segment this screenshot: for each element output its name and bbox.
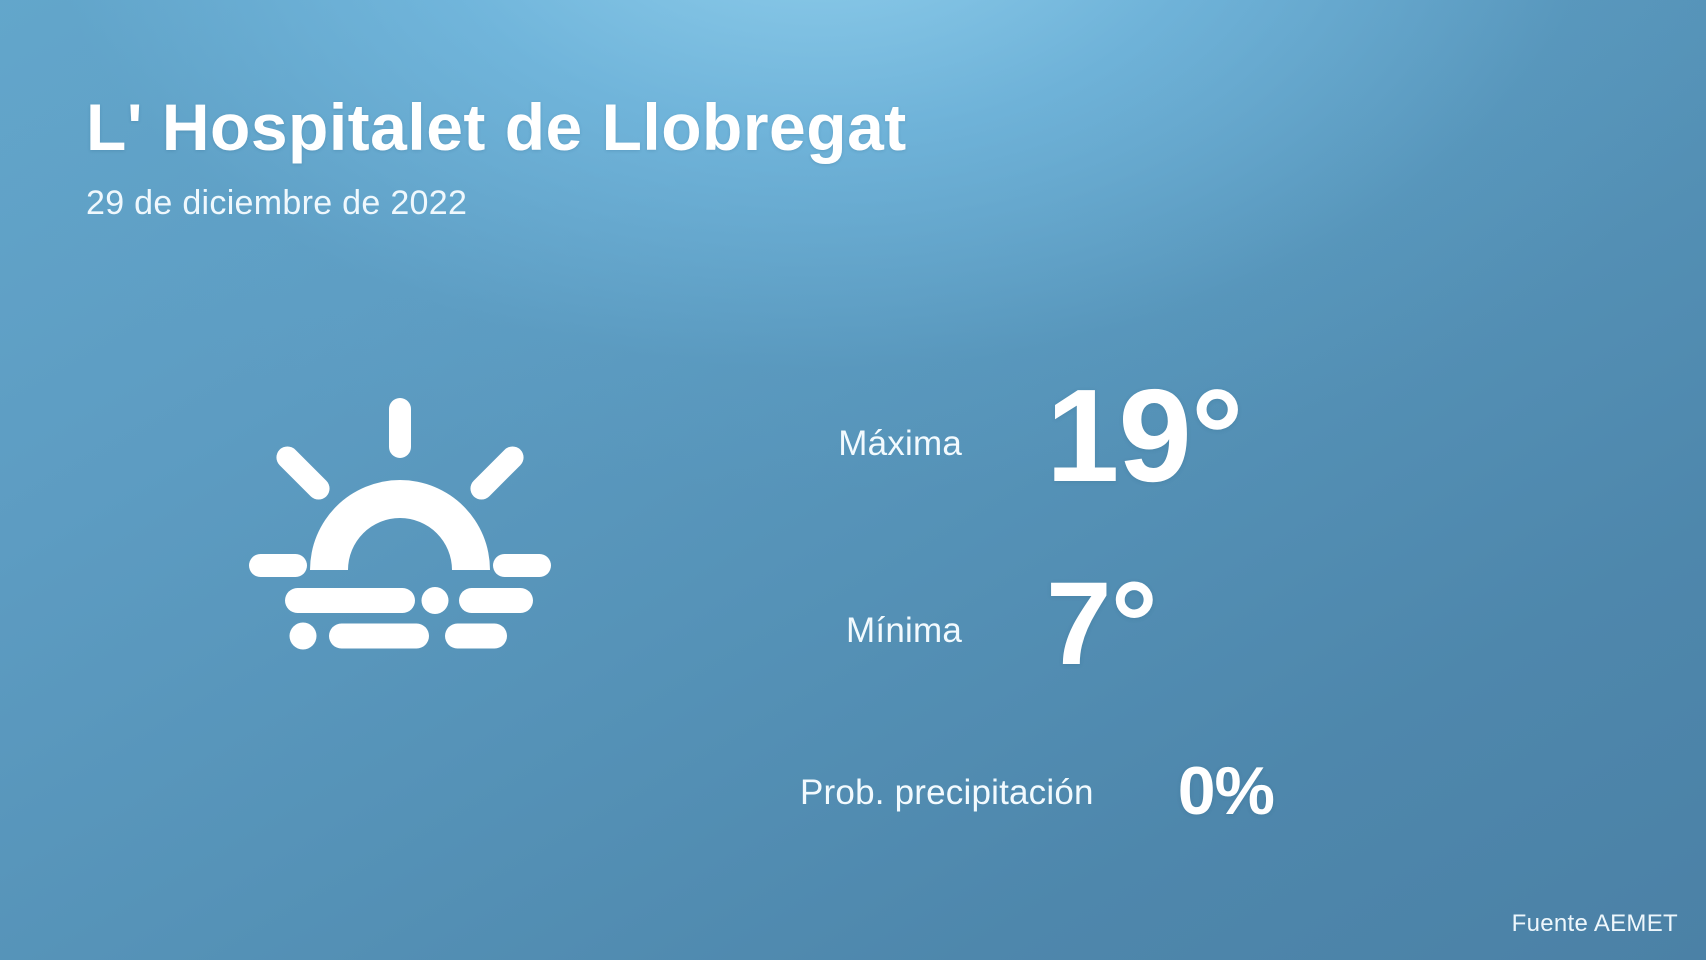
max-temp-label: Máxima bbox=[838, 424, 962, 464]
page-title: L' Hospitalet de Llobregat bbox=[86, 92, 946, 163]
precipitation-value: 0% bbox=[1178, 752, 1376, 830]
forecast-row-max: Máxima 19° bbox=[800, 360, 1376, 556]
forecast-row-min: Mínima 7° bbox=[800, 556, 1376, 752]
sun-haze-icon bbox=[245, 388, 555, 658]
forecast-row-precipitation: Prob. precipitación 0% bbox=[800, 752, 1376, 872]
min-temp-value: 7° bbox=[1046, 556, 1376, 692]
card-body: Máxima 19° Mínima 7° Prob. precipitación… bbox=[0, 360, 1706, 860]
max-temp-value: 19° bbox=[1046, 360, 1376, 511]
forecast-values: Máxima 19° Mínima 7° Prob. precipitación… bbox=[800, 360, 1706, 872]
min-temp-label: Mínima bbox=[846, 611, 962, 651]
precipitation-label: Prob. precipitación bbox=[800, 773, 1094, 813]
source-attribution: Fuente AEMET bbox=[1512, 910, 1678, 938]
weather-card: L' Hospitalet de Llobregat 29 de diciemb… bbox=[0, 0, 1706, 960]
card-header: L' Hospitalet de Llobregat 29 de diciemb… bbox=[86, 92, 1066, 223]
forecast-date: 29 de diciembre de 2022 bbox=[86, 185, 1066, 222]
weather-icon-container bbox=[0, 360, 800, 658]
